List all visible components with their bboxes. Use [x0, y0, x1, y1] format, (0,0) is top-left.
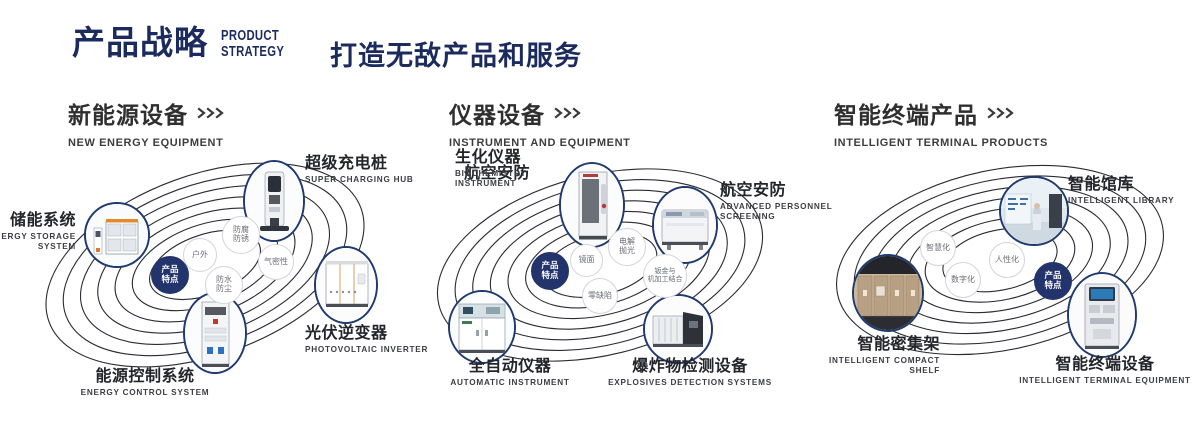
feature-line2: 防锈: [233, 234, 249, 243]
feature-bubble-sheetmetal-machining: 钣金与 机加工结合: [643, 254, 687, 298]
feature-line1: 钣金与: [655, 268, 676, 275]
label-cn: 智能终端设备: [990, 356, 1200, 374]
feature-line2: 抛光: [619, 246, 635, 255]
node-photovoltaic-inverter[interactable]: [314, 246, 378, 324]
core-line2: 特点: [541, 270, 558, 280]
feature-line2: 机加工结合: [648, 276, 683, 283]
feature-line1: 人性化: [995, 255, 1019, 264]
section-heading-intelligent-terminal: 智能终端产品 INTELLIGENT TERMINAL PRODUCTS: [834, 96, 1048, 149]
page-header: 产品战略 PRODUCT STRATEGY: [72, 26, 302, 60]
core-line1: 产品: [541, 260, 558, 270]
energy-control-cabinet-photo: [185, 294, 245, 372]
core-line2: 特点: [1044, 280, 1061, 290]
page-title: 产品战略: [72, 26, 208, 59]
feature-bubble-zero-defect: 零缺陷: [582, 278, 618, 314]
label-en: INTELLIGENT COMPACTSHELF: [760, 356, 940, 377]
cluster-new-energy-equipment: 储能系统 ENERGY STORAGESYSTEM 超级充电桩 SUPER CH…: [0, 150, 400, 420]
explosives-detector-photo: [645, 296, 711, 362]
chevron-triple-right-icon: [987, 107, 1017, 119]
section-heading-cn: 智能终端产品: [834, 96, 1048, 130]
feature-bubble-waterproof-dustproof: 防水 防尘: [205, 266, 243, 304]
label-energy-control-system: 能源控制系统 ENERGY CONTROL SYSTEM: [20, 368, 270, 398]
label-en: ENERGY CONTROL SYSTEM: [20, 388, 270, 398]
page-title-english-line2: STRATEGY: [221, 44, 284, 60]
feature-core-product-highlights: 产品 特点: [1034, 262, 1072, 300]
feature-bubble-humanized: 人性化: [989, 242, 1025, 278]
feature-line1: 防腐: [233, 225, 249, 234]
section-heading-en: NEW ENERGY EQUIPMENT: [68, 137, 227, 149]
feature-core-product-highlights: 产品 特点: [151, 256, 189, 294]
label-intelligent-compact-shelf: 智能密集架 INTELLIGENT COMPACTSHELF: [760, 336, 940, 376]
page-title-english-line1: PRODUCT: [221, 28, 284, 44]
section-heading-cn-text: 仪器设备: [449, 96, 545, 130]
label-energy-storage-system: 储能系统 ENERGY STORAGESYSTEM: [0, 212, 76, 252]
feature-line2: 防尘: [216, 284, 232, 293]
label-biochemistry-instrument: 生化仪器 BIOCHEMISTRYINSTRUMENT: [455, 149, 625, 189]
section-heading-cn-text: 智能终端产品: [834, 96, 978, 130]
node-automatic-instrument[interactable]: [448, 290, 516, 364]
feature-bubble-digital: 数字化: [945, 262, 981, 298]
chevron-triple-right-icon: [554, 107, 584, 119]
node-explosives-detection-systems[interactable]: [643, 294, 713, 364]
feature-bubble-intelligent: 智慧化: [920, 230, 956, 266]
cluster-intelligent-terminal-products: 智能馆库 INTELLIGENT LIBRARY 智能密集架 INTE: [800, 150, 1200, 420]
label-cn: 能源控制系统: [20, 368, 270, 386]
node-intelligent-library[interactable]: [999, 176, 1069, 246]
section-heading-new-energy: 新能源设备 NEW ENERGY EQUIPMENT: [68, 96, 227, 149]
feature-core-product-highlights: 产品 特点: [531, 252, 569, 290]
personnel-screening-photo: [654, 188, 716, 262]
section-heading-cn-text: 新能源设备: [68, 96, 188, 130]
label-en: EXPLOSIVES DETECTION SYSTEMS: [570, 378, 810, 388]
core-line1: 产品: [1044, 270, 1061, 280]
chevron-triple-right-icon: [197, 107, 227, 119]
feature-line1: 智慧化: [926, 243, 950, 252]
feature-bubble-outdoor: 户外: [183, 238, 217, 272]
section-heading-en: INSTRUMENT AND EQUIPMENT: [449, 137, 630, 149]
section-heading-cn: 新能源设备: [68, 96, 227, 130]
label-intelligent-terminal-equipment: 智能终端设备 INTELLIGENT TERMINAL EQUIPMENT: [990, 356, 1200, 386]
feature-bubble-mirror-finish: 镜面: [570, 244, 603, 277]
label-cn: 智能馆库: [1068, 176, 1200, 194]
feature-bubble-anticorrosion: 防腐 防锈: [222, 216, 260, 254]
feature-line1: 数字化: [951, 275, 975, 284]
feature-line1: 零缺陷: [588, 291, 612, 300]
label-cn: 智能密集架: [760, 336, 940, 354]
energy-storage-cabinet-photo: [86, 204, 148, 266]
feature-line1: 户外: [192, 250, 208, 259]
node-energy-storage-system[interactable]: [84, 202, 150, 268]
automatic-instrument-photo: [450, 292, 514, 362]
feature-line1: 气密性: [264, 257, 288, 266]
intelligent-library-photo: [1001, 178, 1067, 244]
feature-line1: 镜面: [579, 255, 595, 264]
label-intelligent-library: 智能馆库 INTELLIGENT LIBRARY: [1068, 176, 1200, 206]
core-line1: 产品: [161, 264, 178, 274]
cluster-instrument-and-equipment: 航空安防 生化仪器 BIOCHEMISTRYINSTRUMENT 航空安防 AD…: [400, 150, 800, 420]
label-en: INTELLIGENT TERMINAL EQUIPMENT: [990, 376, 1200, 386]
product-strategy-infographic: 产品战略 PRODUCT STRATEGY 打造无敌产品和服务 新能源设备 NE…: [0, 0, 1200, 422]
feature-line1: 电解: [619, 237, 635, 246]
label-cn: 储能系统: [0, 212, 76, 230]
page-slogan: 打造无敌产品和服务: [330, 34, 582, 73]
feature-bubble-airtightness: 气密性: [258, 244, 294, 280]
label-cn: 生化仪器: [455, 149, 625, 167]
page-title-english: PRODUCT STRATEGY: [221, 28, 284, 60]
section-heading-instrument: 仪器设备 INSTRUMENT AND EQUIPMENT: [449, 96, 630, 149]
label-en: INTELLIGENT LIBRARY: [1068, 196, 1200, 206]
label-en: ENERGY STORAGESYSTEM: [0, 232, 76, 253]
node-advanced-personnel-screening[interactable]: [652, 186, 718, 264]
feature-line1: 防水: [216, 275, 232, 284]
feature-bubble-electro-polishing: 电解 抛光: [608, 228, 646, 266]
label-en: BIOCHEMISTRYINSTRUMENT: [455, 169, 625, 190]
core-line2: 特点: [161, 274, 178, 284]
compact-shelf-photo: [854, 256, 922, 330]
self-service-kiosk-photo: [1069, 274, 1135, 356]
section-heading-en: INTELLIGENT TERMINAL PRODUCTS: [834, 137, 1048, 149]
node-energy-control-system[interactable]: [183, 292, 247, 374]
node-intelligent-terminal-equipment[interactable]: [1067, 272, 1137, 358]
pv-inverter-cabinet-photo: [316, 248, 376, 322]
section-heading-cn: 仪器设备: [449, 96, 630, 130]
node-intelligent-compact-shelf[interactable]: [852, 254, 924, 332]
